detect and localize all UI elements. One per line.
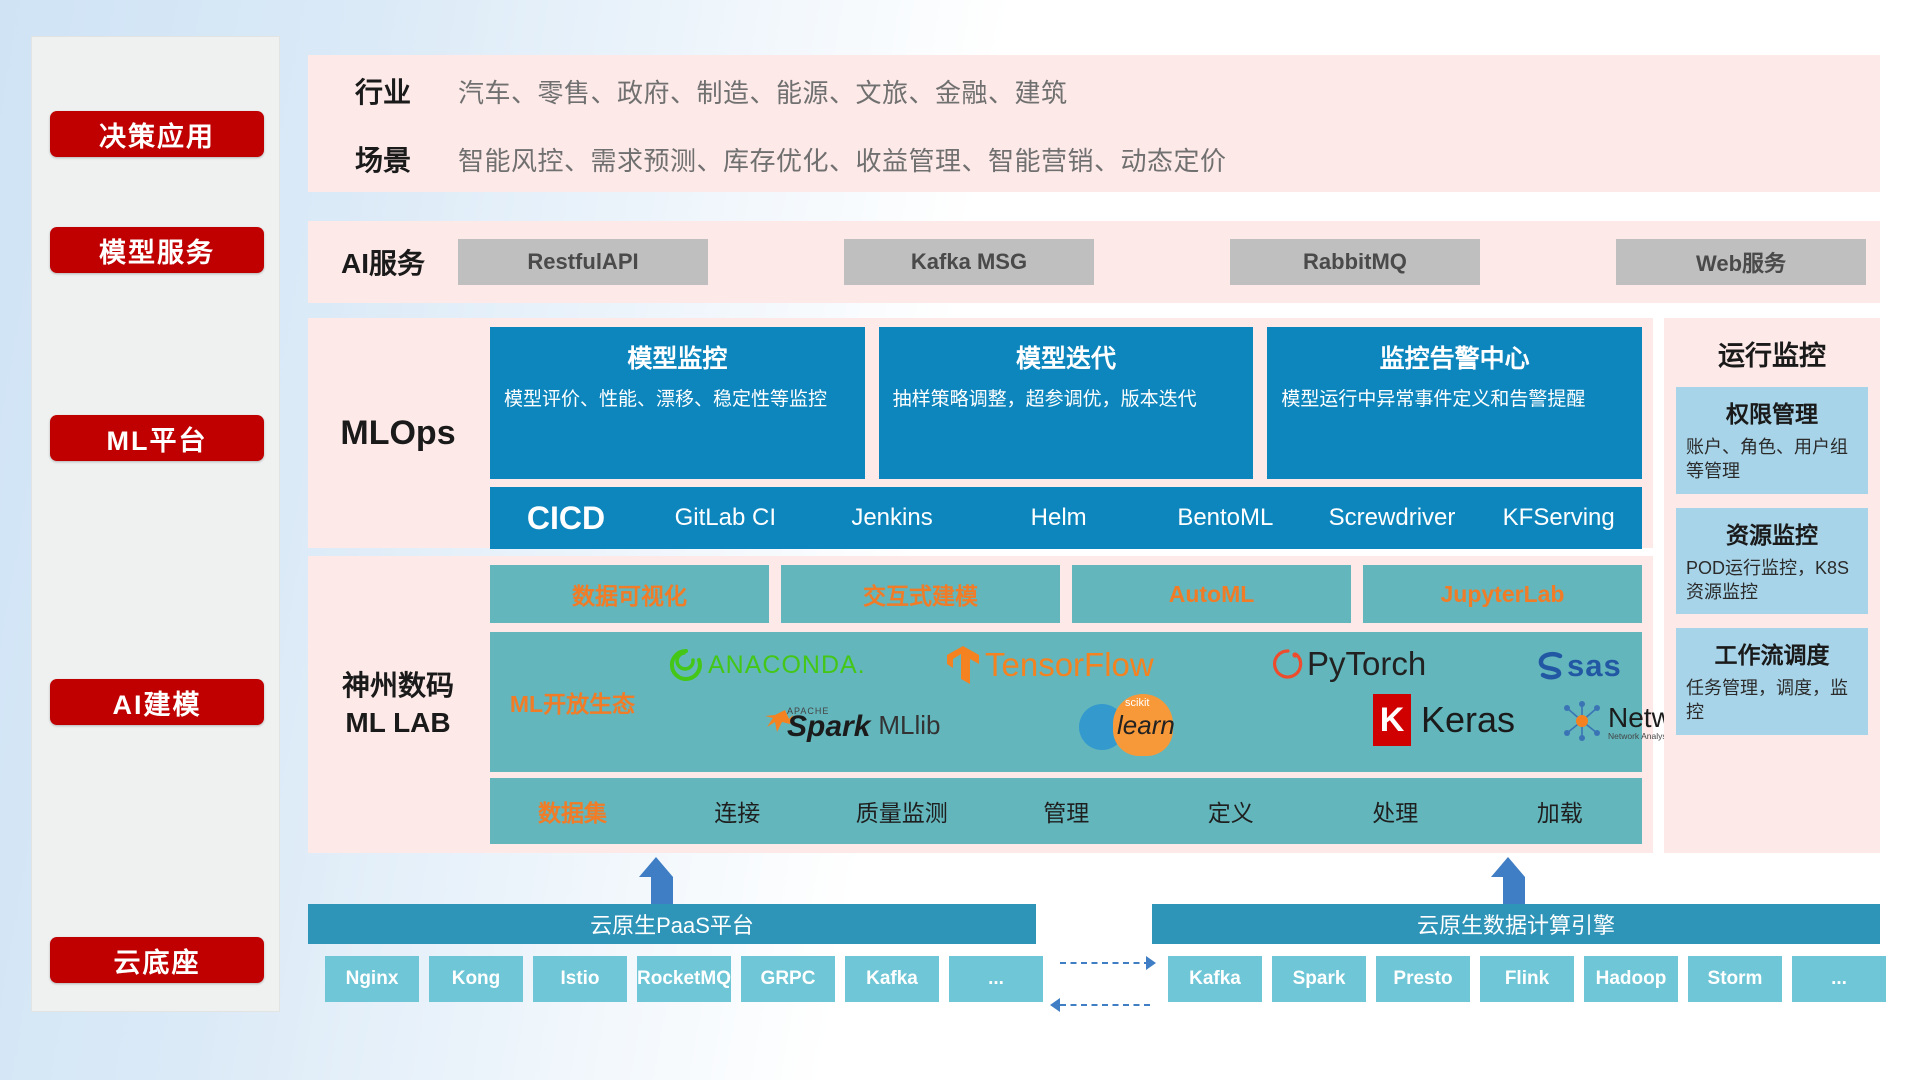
card-desc: 抽样策略调整，超参调优，版本迭代 xyxy=(893,387,1240,413)
keras-logo: K Keras xyxy=(1373,694,1515,746)
data-engine-bar: 云原生数据计算引擎 xyxy=(1152,904,1880,944)
ml-lab-label-line1: 神州数码 xyxy=(342,668,454,704)
paas-chip-istio[interactable]: Istio xyxy=(533,956,627,1002)
rail-item-decision-app[interactable]: 决策应用 xyxy=(50,111,264,157)
monitoring-card-resources[interactable]: 资源监控 POD运行监控，K8S资源监控 xyxy=(1676,508,1868,615)
cicd-item-kfserving[interactable]: KFServing xyxy=(1475,505,1642,530)
tab-jupyterlab[interactable]: JupyterLab xyxy=(1363,565,1642,623)
cicd-item-bentoml[interactable]: BentoML xyxy=(1142,505,1309,530)
rail-item-model-service[interactable]: 模型服务 xyxy=(50,227,264,273)
rail-item-ai-modeling[interactable]: AI建模 xyxy=(50,679,264,725)
sas-logo: sas xyxy=(1535,648,1622,684)
cicd-row: CICD GitLab CI Jenkins Helm BentoML Scre… xyxy=(490,487,1642,549)
anaconda-logo: ANACONDA. xyxy=(669,648,866,682)
mlops-card-list: 模型监控 模型评价、性能、漂移、稳定性等监控 模型迭代 抽样策略调整，超参调优，… xyxy=(490,327,1642,479)
ml-ecosystem-label: ML开放生态 xyxy=(490,685,655,719)
monitoring-card-permissions[interactable]: 权限管理 账户、角色、用户组等管理 xyxy=(1676,387,1868,494)
mlops-card-model-monitor[interactable]: 模型监控 模型评价、性能、漂移、稳定性等监控 xyxy=(490,327,865,479)
tensorflow-logo: TensorFlow xyxy=(945,644,1154,686)
tab-interactive-modeling[interactable]: 交互式建模 xyxy=(781,565,1060,623)
mlops-card-alert-center[interactable]: 监控告警中心 模型运行中异常事件定义和告警提醒 xyxy=(1267,327,1642,479)
paas-chip-nginx[interactable]: Nginx xyxy=(325,956,419,1002)
cicd-item-screwdriver[interactable]: Screwdriver xyxy=(1309,505,1476,530)
card-title: 模型迭代 xyxy=(893,339,1240,375)
service-chip-rabbitmq[interactable]: RabbitMQ xyxy=(1230,239,1480,285)
keras-mark: K xyxy=(1373,694,1411,746)
card-desc: POD运行监控，K8S资源监控 xyxy=(1686,556,1858,605)
tab-automl[interactable]: AutoML xyxy=(1072,565,1351,623)
scikit-learn-logo: scikit learn xyxy=(1079,692,1229,754)
card-title: 资源监控 xyxy=(1686,516,1858,550)
dataset-row: 数据集 连接 质量监测 管理 定义 处理 加载 xyxy=(490,778,1642,844)
paas-platform-bar: 云原生PaaS平台 xyxy=(308,904,1036,944)
industry-scene-board: 行业 汽车、零售、政府、制造、能源、文旅、金融、建筑 场景 智能风控、需求预测、… xyxy=(308,55,1880,192)
data-chip-hadoop[interactable]: Hadoop xyxy=(1584,956,1678,1002)
scikit-learn-text: learn xyxy=(1117,710,1175,741)
paas-chip-kafka[interactable]: Kafka xyxy=(845,956,939,1002)
ml-lab-label-line2: ML LAB xyxy=(345,705,450,741)
dataset-item-define[interactable]: 定义 xyxy=(1149,794,1314,828)
dataset-item-manage[interactable]: 管理 xyxy=(984,794,1149,828)
scene-row: 场景 智能风控、需求预测、库存优化、收益管理、智能营销、动态定价 xyxy=(308,125,1880,193)
service-chip-kafka-msg[interactable]: Kafka MSG xyxy=(844,239,1094,285)
paas-chip-grpc[interactable]: GRPC xyxy=(741,956,835,1002)
paas-chip-row: Nginx Kong Istio RocketMQ GRPC Kafka ... xyxy=(325,956,1043,1002)
anaconda-logo-text: ANACONDA. xyxy=(708,651,866,680)
dataset-item-quality[interactable]: 质量监测 xyxy=(820,794,985,828)
cicd-item-helm[interactable]: Helm xyxy=(975,505,1142,530)
mlops-label: MLOps xyxy=(308,318,488,548)
card-desc: 模型运行中异常事件定义和告警提醒 xyxy=(1281,387,1628,413)
paas-chip-rocketmq[interactable]: RocketMQ xyxy=(637,956,731,1002)
keras-logo-text: Keras xyxy=(1421,699,1515,741)
ml-lab-tab-list: 数据可视化 交互式建模 AutoML JupyterLab xyxy=(490,565,1642,623)
cicd-label: CICD xyxy=(490,500,642,537)
cicd-item-jenkins[interactable]: Jenkins xyxy=(809,505,976,530)
rail-item-cloud-base[interactable]: 云底座 xyxy=(50,937,264,983)
rail-item-ml-platform[interactable]: ML平台 xyxy=(50,415,264,461)
scikit-top-text: scikit xyxy=(1125,697,1149,709)
card-title: 工作流调度 xyxy=(1686,636,1858,670)
data-chip-kafka[interactable]: Kafka xyxy=(1168,956,1262,1002)
mllib-logo-text: MLlib xyxy=(878,710,940,741)
ml-ecosystem-row: ML开放生态 ANACONDA. TensorFlow xyxy=(490,632,1642,772)
ai-service-label: AI服务 xyxy=(308,242,458,282)
data-chip-spark[interactable]: Spark xyxy=(1272,956,1366,1002)
tab-data-visualization[interactable]: 数据可视化 xyxy=(490,565,769,623)
industry-values: 汽车、零售、政府、制造、能源、文旅、金融、建筑 xyxy=(458,73,1068,110)
data-chip-presto[interactable]: Presto xyxy=(1376,956,1470,1002)
ml-lab-board: 神州数码 ML LAB 数据可视化 交互式建模 AutoML JupyterLa… xyxy=(308,556,1653,853)
pytorch-logo: PyTorch xyxy=(1273,645,1426,683)
pytorch-logo-text: PyTorch xyxy=(1307,645,1426,683)
sas-logo-text: sas xyxy=(1567,648,1622,684)
card-desc: 任务管理，调度，监控 xyxy=(1686,676,1858,725)
monitoring-board: 运行监控 权限管理 账户、角色、用户组等管理 资源监控 POD运行监控，K8S资… xyxy=(1664,318,1880,853)
layer-rail: 决策应用 模型服务 ML平台 AI建模 云底座 xyxy=(31,36,280,1012)
service-chip-restfulapi[interactable]: RestfulAPI xyxy=(458,239,708,285)
data-engine-chip-row: Kafka Spark Presto Flink Hadoop Storm ..… xyxy=(1168,956,1886,1002)
card-title: 监控告警中心 xyxy=(1281,339,1628,375)
mlops-card-model-iteration[interactable]: 模型迭代 抽样策略调整，超参调优，版本迭代 xyxy=(879,327,1254,479)
card-title: 模型监控 xyxy=(504,339,851,375)
ml-lab-label: 神州数码 ML LAB xyxy=(308,556,488,853)
scene-label: 场景 xyxy=(308,139,458,179)
data-chip-more[interactable]: ... xyxy=(1792,956,1886,1002)
paas-chip-more[interactable]: ... xyxy=(949,956,1043,1002)
dataset-item-load[interactable]: 加载 xyxy=(1478,794,1643,828)
mlops-board: MLOps 模型监控 模型评价、性能、漂移、稳定性等监控 模型迭代 抽样策略调整… xyxy=(308,318,1653,548)
cicd-item-gitlab-ci[interactable]: GitLab CI xyxy=(642,505,809,530)
tensorflow-logo-text: TensorFlow xyxy=(985,646,1154,684)
dataset-item-connect[interactable]: 连接 xyxy=(655,794,820,828)
monitoring-title: 运行监控 xyxy=(1664,318,1880,373)
industry-row: 行业 汽车、零售、政府、制造、能源、文旅、金融、建筑 xyxy=(308,57,1880,125)
dataset-item-process[interactable]: 处理 xyxy=(1313,794,1478,828)
scene-values: 智能风控、需求预测、库存优化、收益管理、智能营销、动态定价 xyxy=(458,141,1227,178)
cicd-item-list: GitLab CI Jenkins Helm BentoML Screwdriv… xyxy=(642,505,1642,530)
paas-chip-kong[interactable]: Kong xyxy=(429,956,523,1002)
spark-mllib-logo: APACHE Spark MLlib xyxy=(763,706,941,744)
ml-ecosystem-logo-area: ANACONDA. TensorFlow PyTorch xyxy=(655,632,1642,772)
service-chip-web[interactable]: Web服务 xyxy=(1616,239,1866,285)
data-chip-storm[interactable]: Storm xyxy=(1688,956,1782,1002)
card-desc: 模型评价、性能、漂移、稳定性等监控 xyxy=(504,387,851,413)
ai-service-chip-list: RestfulAPI Kafka MSG RabbitMQ Web服务 xyxy=(458,239,1880,285)
dataset-item-list: 连接 质量监测 管理 定义 处理 加载 xyxy=(655,794,1642,828)
diagram-canvas: 决策应用 模型服务 ML平台 AI建模 云底座 行业 汽车、零售、政府、制造、能… xyxy=(0,0,1920,1080)
dataset-label: 数据集 xyxy=(490,794,655,828)
card-title: 权限管理 xyxy=(1686,395,1858,429)
industry-label: 行业 xyxy=(308,71,458,111)
monitoring-card-workflow[interactable]: 工作流调度 任务管理，调度，监控 xyxy=(1676,628,1868,735)
data-chip-flink[interactable]: Flink xyxy=(1480,956,1574,1002)
card-desc: 账户、角色、用户组等管理 xyxy=(1686,435,1858,484)
spark-logo-text: Spark xyxy=(787,710,870,743)
ai-service-board: AI服务 RestfulAPI Kafka MSG RabbitMQ Web服务 xyxy=(308,221,1880,303)
